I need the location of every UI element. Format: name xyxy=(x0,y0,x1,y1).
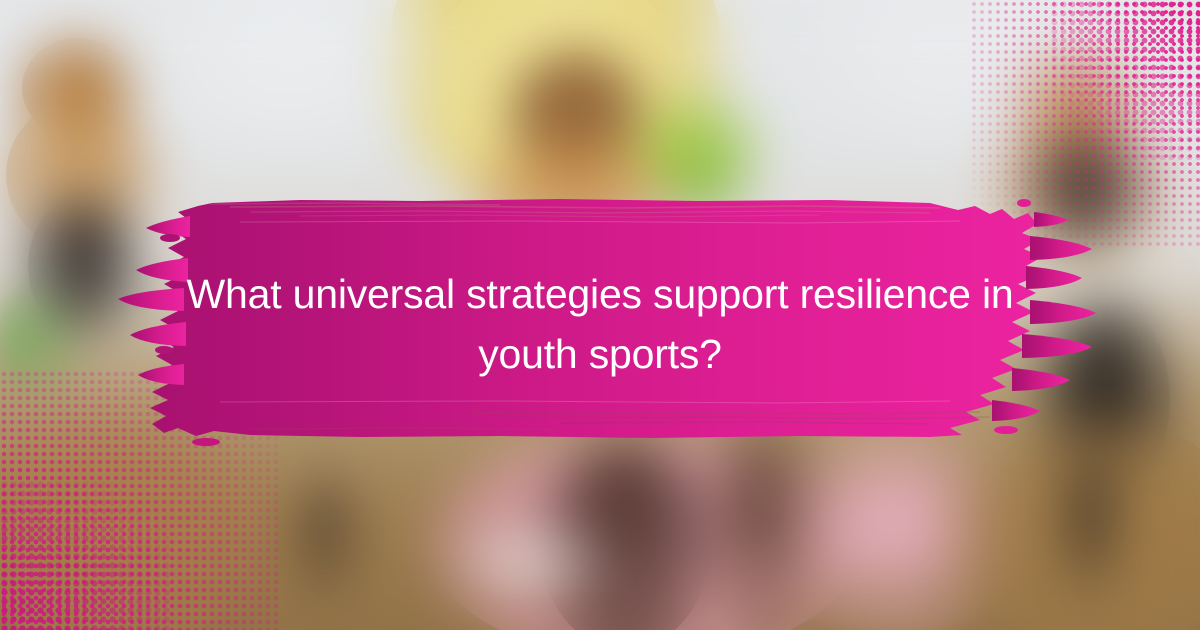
hero-card: What universal strategies support resili… xyxy=(0,0,1200,630)
hero-headline: What universal strategies support resili… xyxy=(150,264,1050,384)
